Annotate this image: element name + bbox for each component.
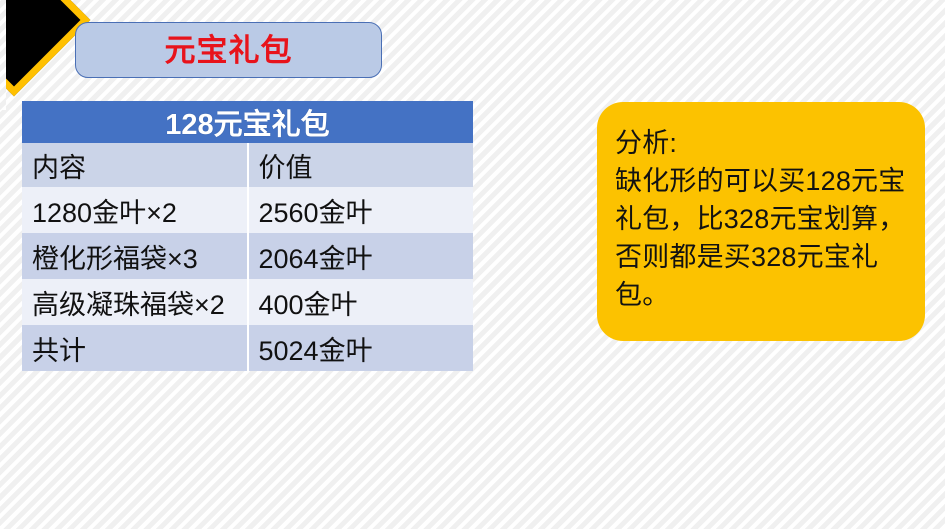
column-header-value: 价值: [248, 143, 474, 187]
table-row: 1280金叶×2 2560金叶: [22, 187, 473, 233]
table-column-header-row: 内容 价值: [22, 143, 473, 187]
slide-canvas: 元宝礼包 128元宝礼包 内容 价值 1280金叶×2 2560金叶 橙化形福袋…: [0, 0, 945, 529]
page-title: 元宝礼包: [165, 35, 293, 66]
row-name: 高级凝珠福袋×2: [22, 279, 248, 325]
row-value: 400金叶: [248, 279, 474, 325]
row-name: 1280金叶×2: [22, 187, 248, 233]
gift-package-table: 128元宝礼包 内容 价值 1280金叶×2 2560金叶 橙化形福袋×3 20…: [22, 101, 473, 371]
table-title: 128元宝礼包: [22, 101, 473, 143]
row-value: 2064金叶: [248, 233, 474, 279]
row-name: 共计: [22, 325, 248, 371]
column-header-content: 内容: [22, 143, 248, 187]
table-header-row: 128元宝礼包: [22, 101, 473, 143]
table-row: 高级凝珠福袋×2 400金叶: [22, 279, 473, 325]
row-value: 5024金叶: [248, 325, 474, 371]
row-value: 2560金叶: [248, 187, 474, 233]
page-title-pill: 元宝礼包: [75, 22, 382, 78]
analysis-callout: 分析: 缺化形的可以买128元宝礼包，比328元宝划算，否则都是买328元宝礼包…: [597, 102, 925, 341]
table-row: 橙化形福袋×3 2064金叶: [22, 233, 473, 279]
decoration-mask: [0, 0, 6, 110]
analysis-text: 分析: 缺化形的可以买128元宝礼包，比328元宝划算，否则都是买328元宝礼包…: [615, 124, 907, 314]
table-total-row: 共计 5024金叶: [22, 325, 473, 371]
row-name: 橙化形福袋×3: [22, 233, 248, 279]
